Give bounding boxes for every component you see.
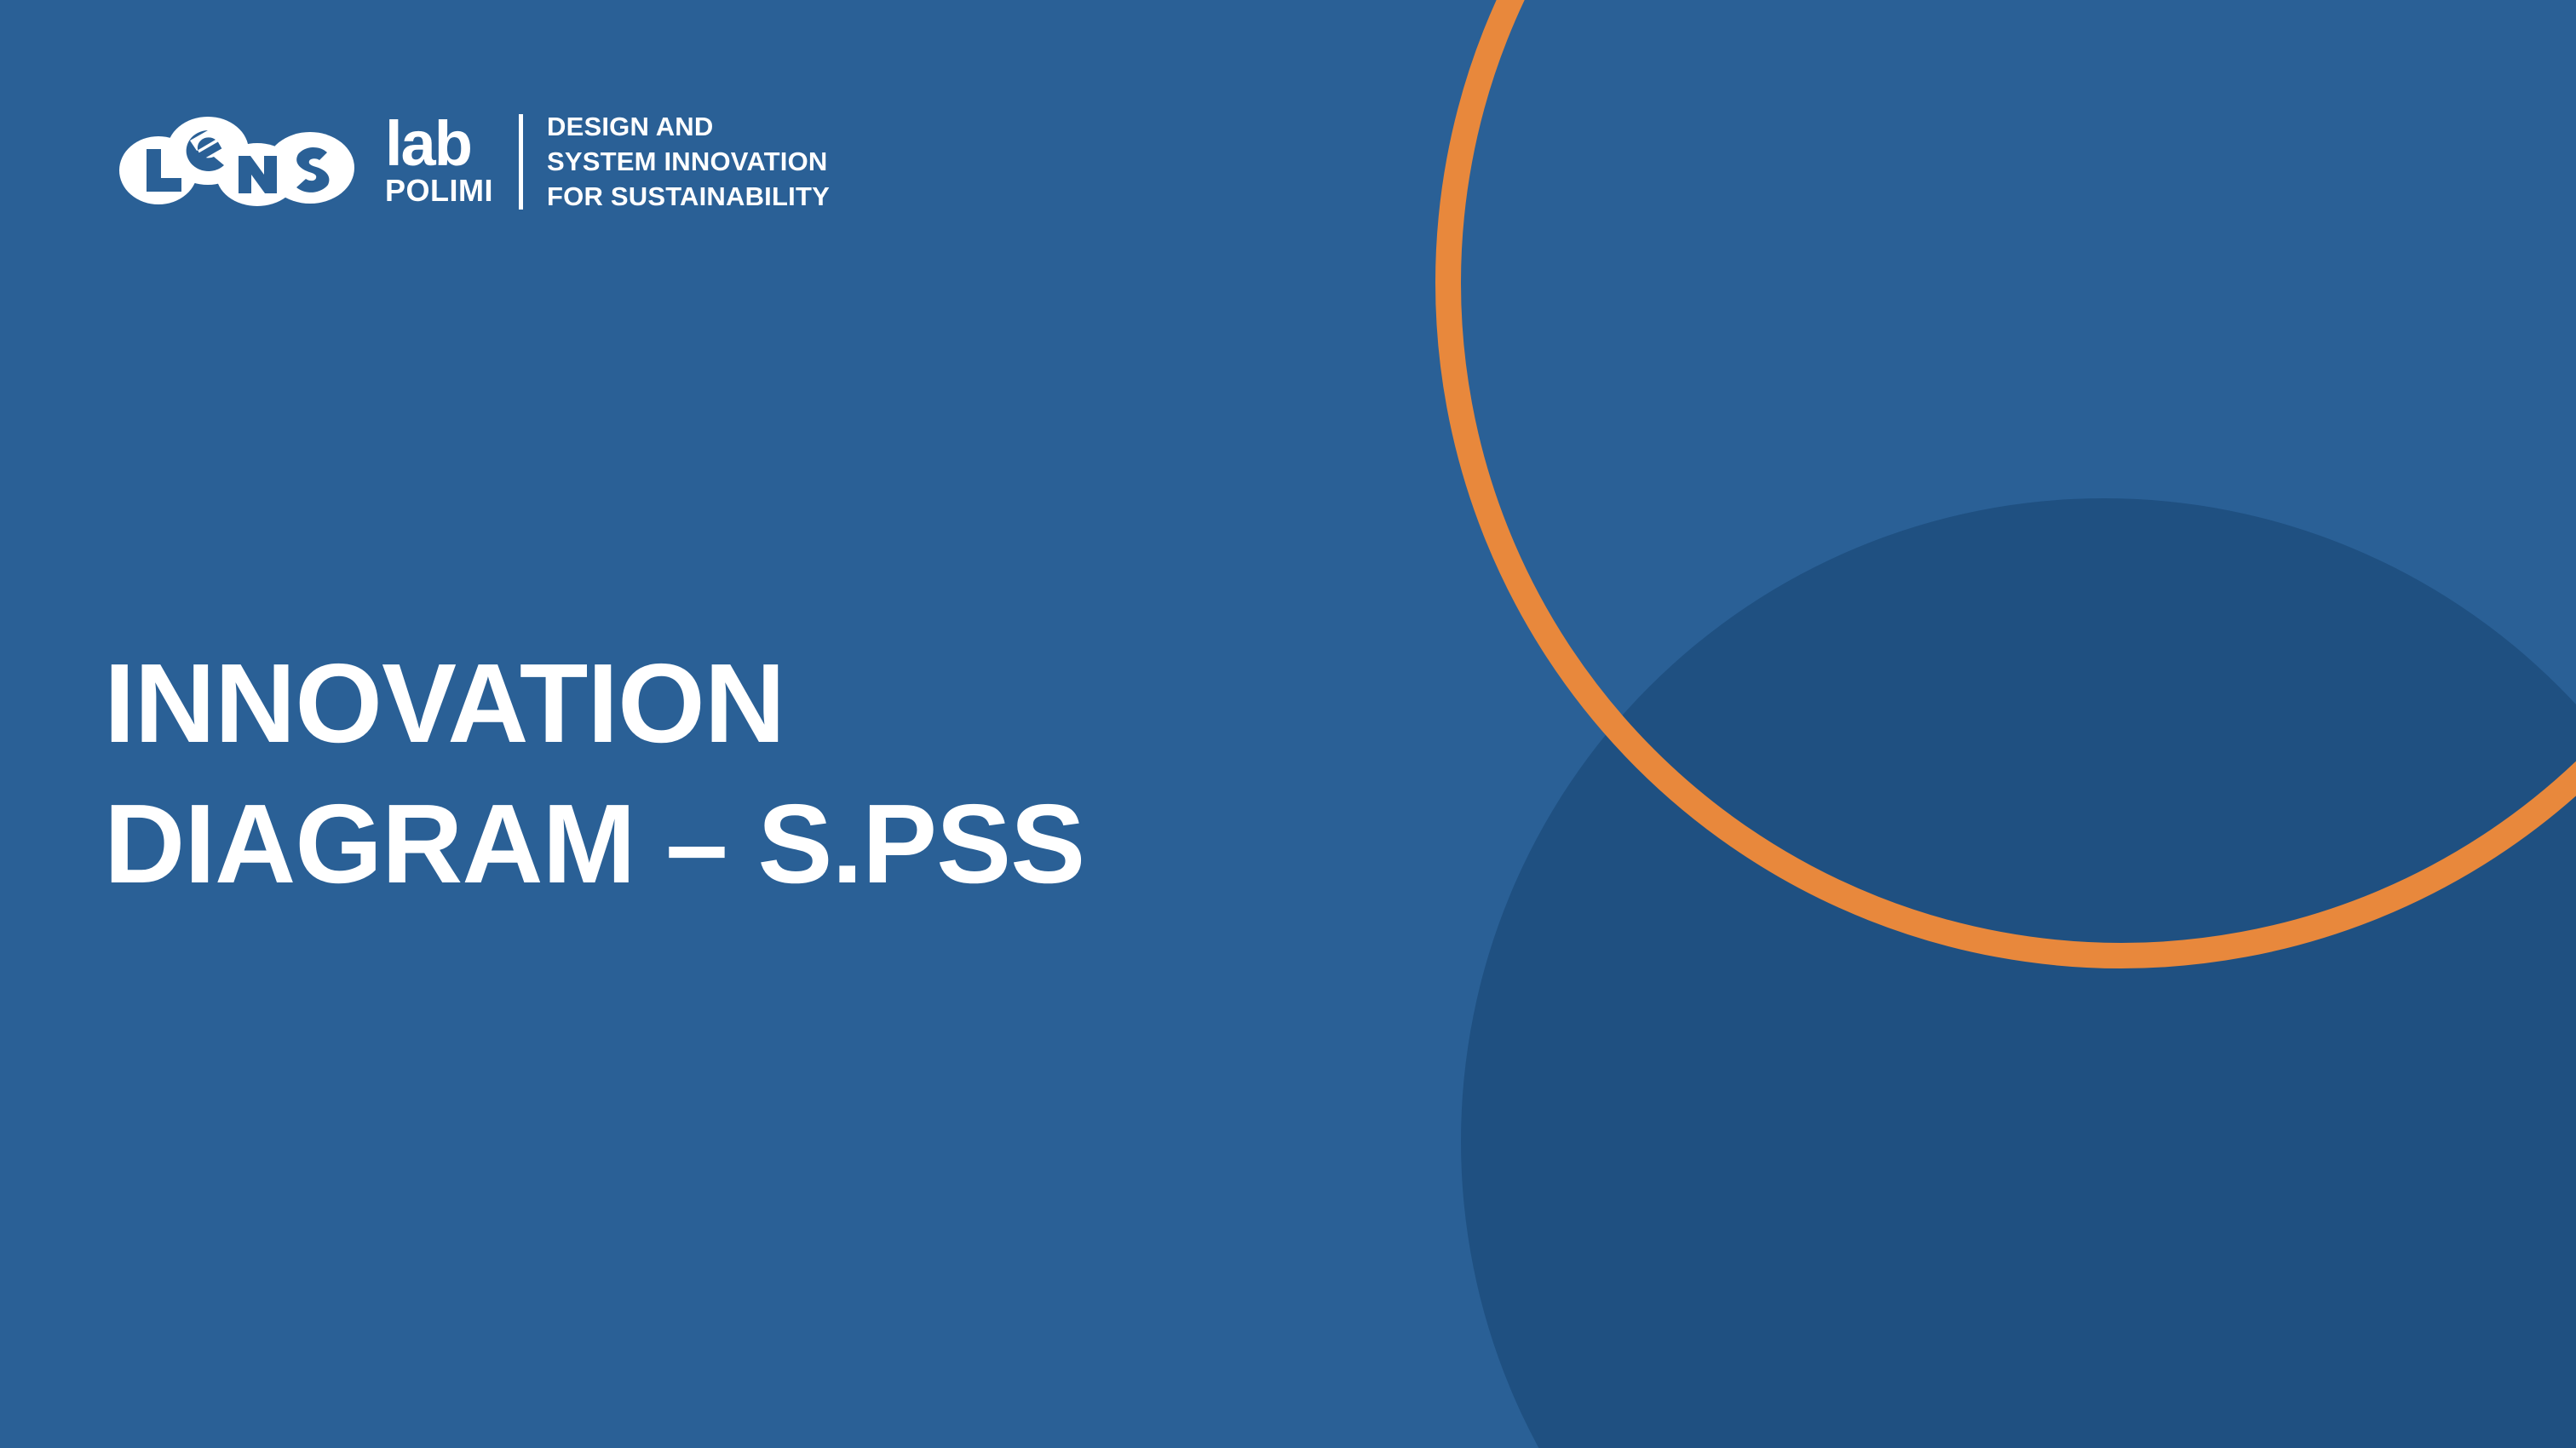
logo-polimi-word: POLIMI [385, 175, 493, 206]
lab-polimi-lockup: lab POLIMI [385, 119, 493, 206]
tagline-line-3: FOR SUSTAINABILITY [547, 179, 830, 214]
lens-lab-logo: lab POLIMI DESIGN AND SYSTEM INNOVATION … [116, 109, 830, 215]
page-title-line-1: INNOVATION [104, 633, 1433, 773]
tagline-line-1: DESIGN AND [547, 109, 830, 144]
tagline-line-2: SYSTEM INNOVATION [547, 144, 830, 179]
logo-tagline: DESIGN AND SYSTEM INNOVATION FOR SUSTAIN… [547, 109, 830, 215]
page-title-line-2: DIAGRAM – S.PSS [104, 773, 1433, 914]
page-title: INNOVATION DIAGRAM – S.PSS [104, 633, 1433, 914]
slide-canvas: lab POLIMI DESIGN AND SYSTEM INNOVATION … [0, 0, 2576, 1448]
lens-bubble-mark-icon [116, 117, 363, 206]
logo-lab-word: lab [385, 119, 471, 169]
logo-divider [519, 114, 523, 210]
